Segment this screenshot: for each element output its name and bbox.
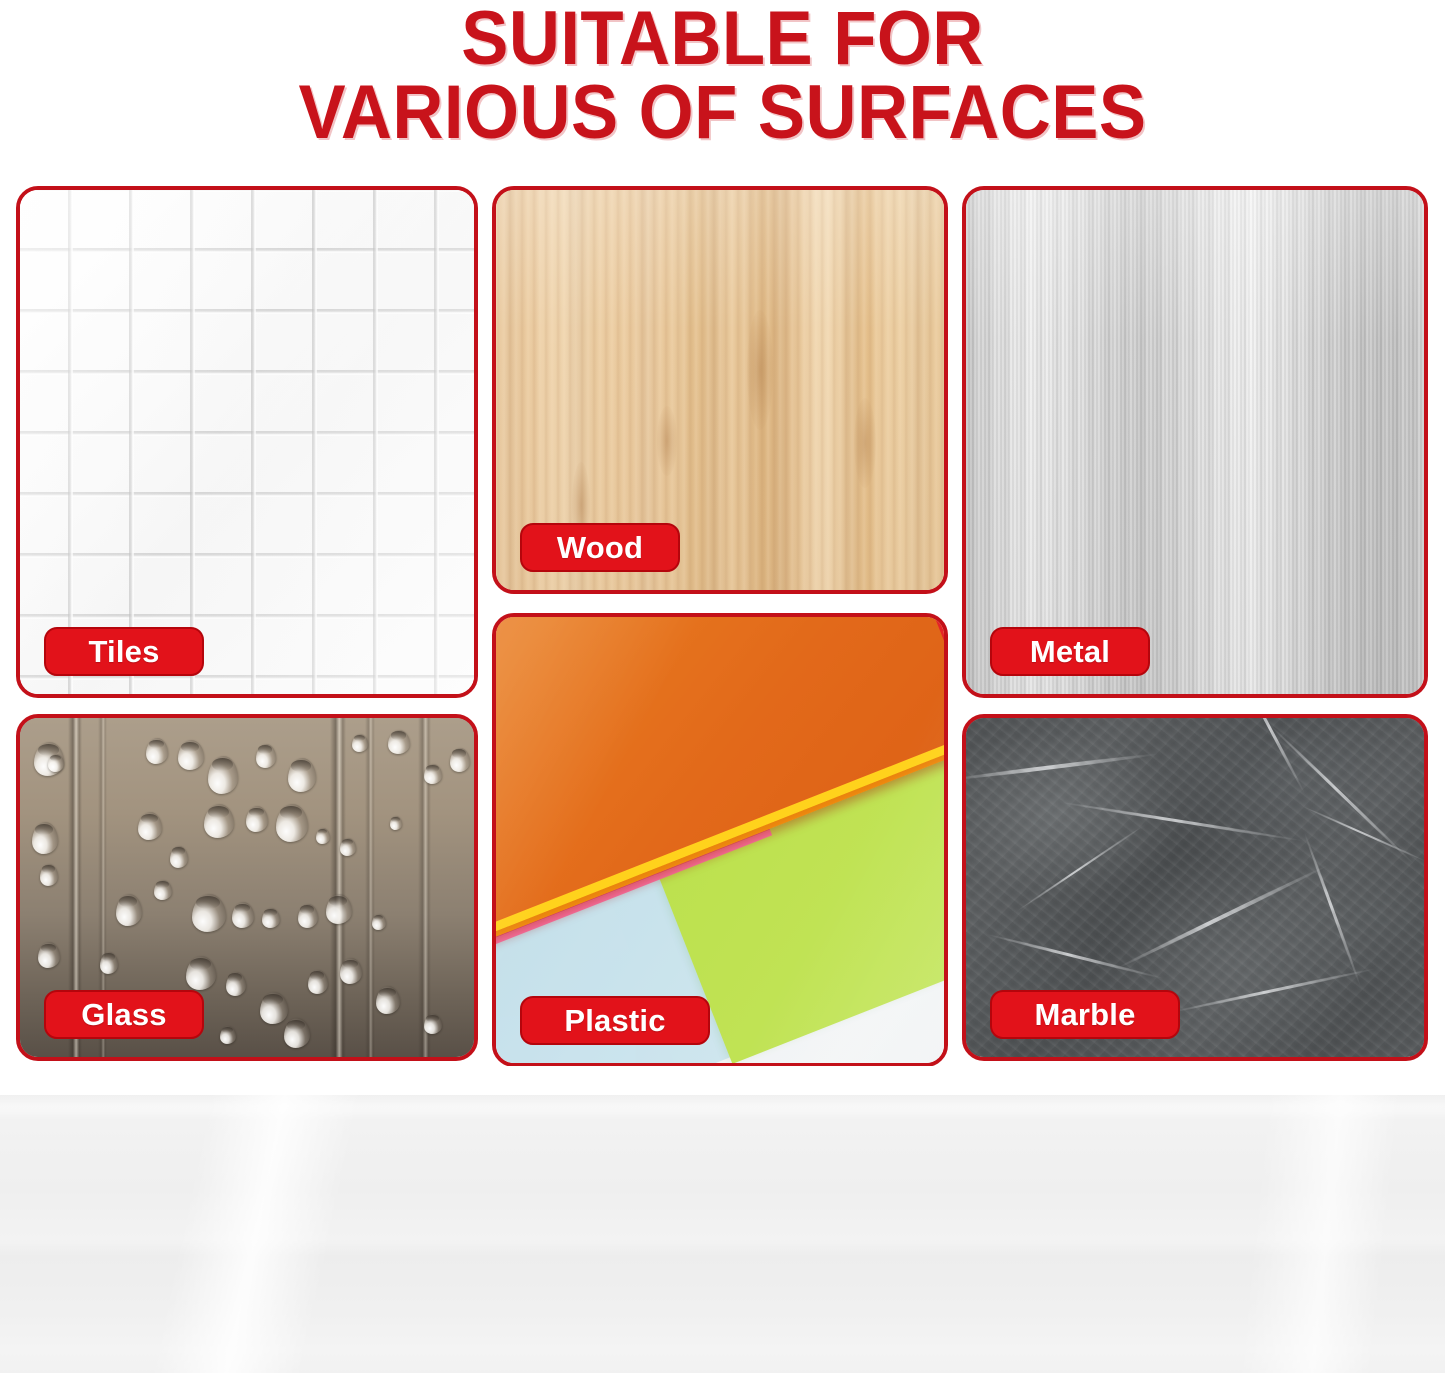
surface-card-metal: Metal [962,186,1428,698]
water-droplet [48,754,64,772]
water-droplet [32,822,58,854]
surface-label-glass: Glass [44,990,204,1039]
water-droplet [262,908,280,928]
water-droplet [352,734,368,752]
water-droplet [186,956,216,990]
water-droplet [316,828,330,844]
water-droplet [284,1018,310,1048]
marble-vein [1268,723,1415,865]
marble-vein [987,933,1165,980]
surface-label-wood: Wood [520,523,680,572]
glass-streak [365,718,375,1057]
water-droplet [288,758,316,792]
water-droplet [424,764,442,784]
surface-card-marble: Marble [962,714,1428,1061]
water-droplet [450,748,470,772]
water-droplet [372,914,386,930]
surface-label-tiles: Tiles [44,627,204,676]
surface-label-plastic: Plastic [520,996,710,1045]
water-droplet [146,738,168,764]
marble-vein [1015,824,1145,913]
water-droplet [116,894,142,926]
wood-grain-knot [657,406,677,476]
water-droplet [138,812,162,840]
water-droplet [178,740,204,770]
marble-vein [962,753,1158,783]
water-droplet [340,838,356,856]
product-surface-footer [0,1095,1445,1373]
water-droplet [204,804,234,838]
content-bottom-gap [0,1066,1445,1095]
marble-vein [1301,805,1427,863]
title-line-2: VARIOUS OF SURFACES [51,76,1395,150]
marble-vein [1303,831,1362,987]
glass-streak [330,718,346,1057]
water-droplet [100,952,118,974]
water-droplet [390,816,402,830]
surface-card-glass: Glass [16,714,478,1061]
infographic-root: SUITABLE FOR VARIOUS OF SURFACES Tiles W… [0,0,1445,1373]
water-droplet [38,942,60,968]
water-droplet [220,1026,236,1044]
surface-card-tiles: Tiles [16,186,478,698]
water-droplet [424,1014,442,1034]
water-droplet [326,894,352,924]
water-droplet [192,894,226,932]
surface-card-plastic: Plastic [492,613,948,1067]
water-droplet [256,744,276,768]
water-droplet [276,804,308,842]
metal-texture [966,190,1424,694]
water-droplet [40,864,58,886]
water-droplet [246,806,268,832]
water-droplet [298,904,318,928]
water-droplet [388,730,410,754]
marble-vein [1170,967,1377,1014]
water-droplet [260,992,288,1024]
marble-vein [1239,714,1306,794]
water-droplet [208,756,238,794]
water-droplet [340,958,362,984]
page-title: SUITABLE FOR VARIOUS OF SURFACES [0,2,1445,151]
surface-card-wood: Wood [492,186,948,594]
water-droplet [226,972,246,996]
water-droplet [170,846,188,868]
title-line-1: SUITABLE FOR [51,2,1395,76]
marble-vein [1059,800,1304,842]
marble-vein [1115,863,1331,971]
surface-label-marble: Marble [990,990,1180,1039]
water-droplet [308,970,328,994]
tiles-texture [20,190,474,694]
water-droplet [376,986,400,1014]
wood-grain-knot [747,310,773,430]
water-droplet [154,880,172,900]
wood-grain-knot [854,398,876,488]
water-droplet [232,902,254,928]
surface-label-metal: Metal [990,627,1150,676]
